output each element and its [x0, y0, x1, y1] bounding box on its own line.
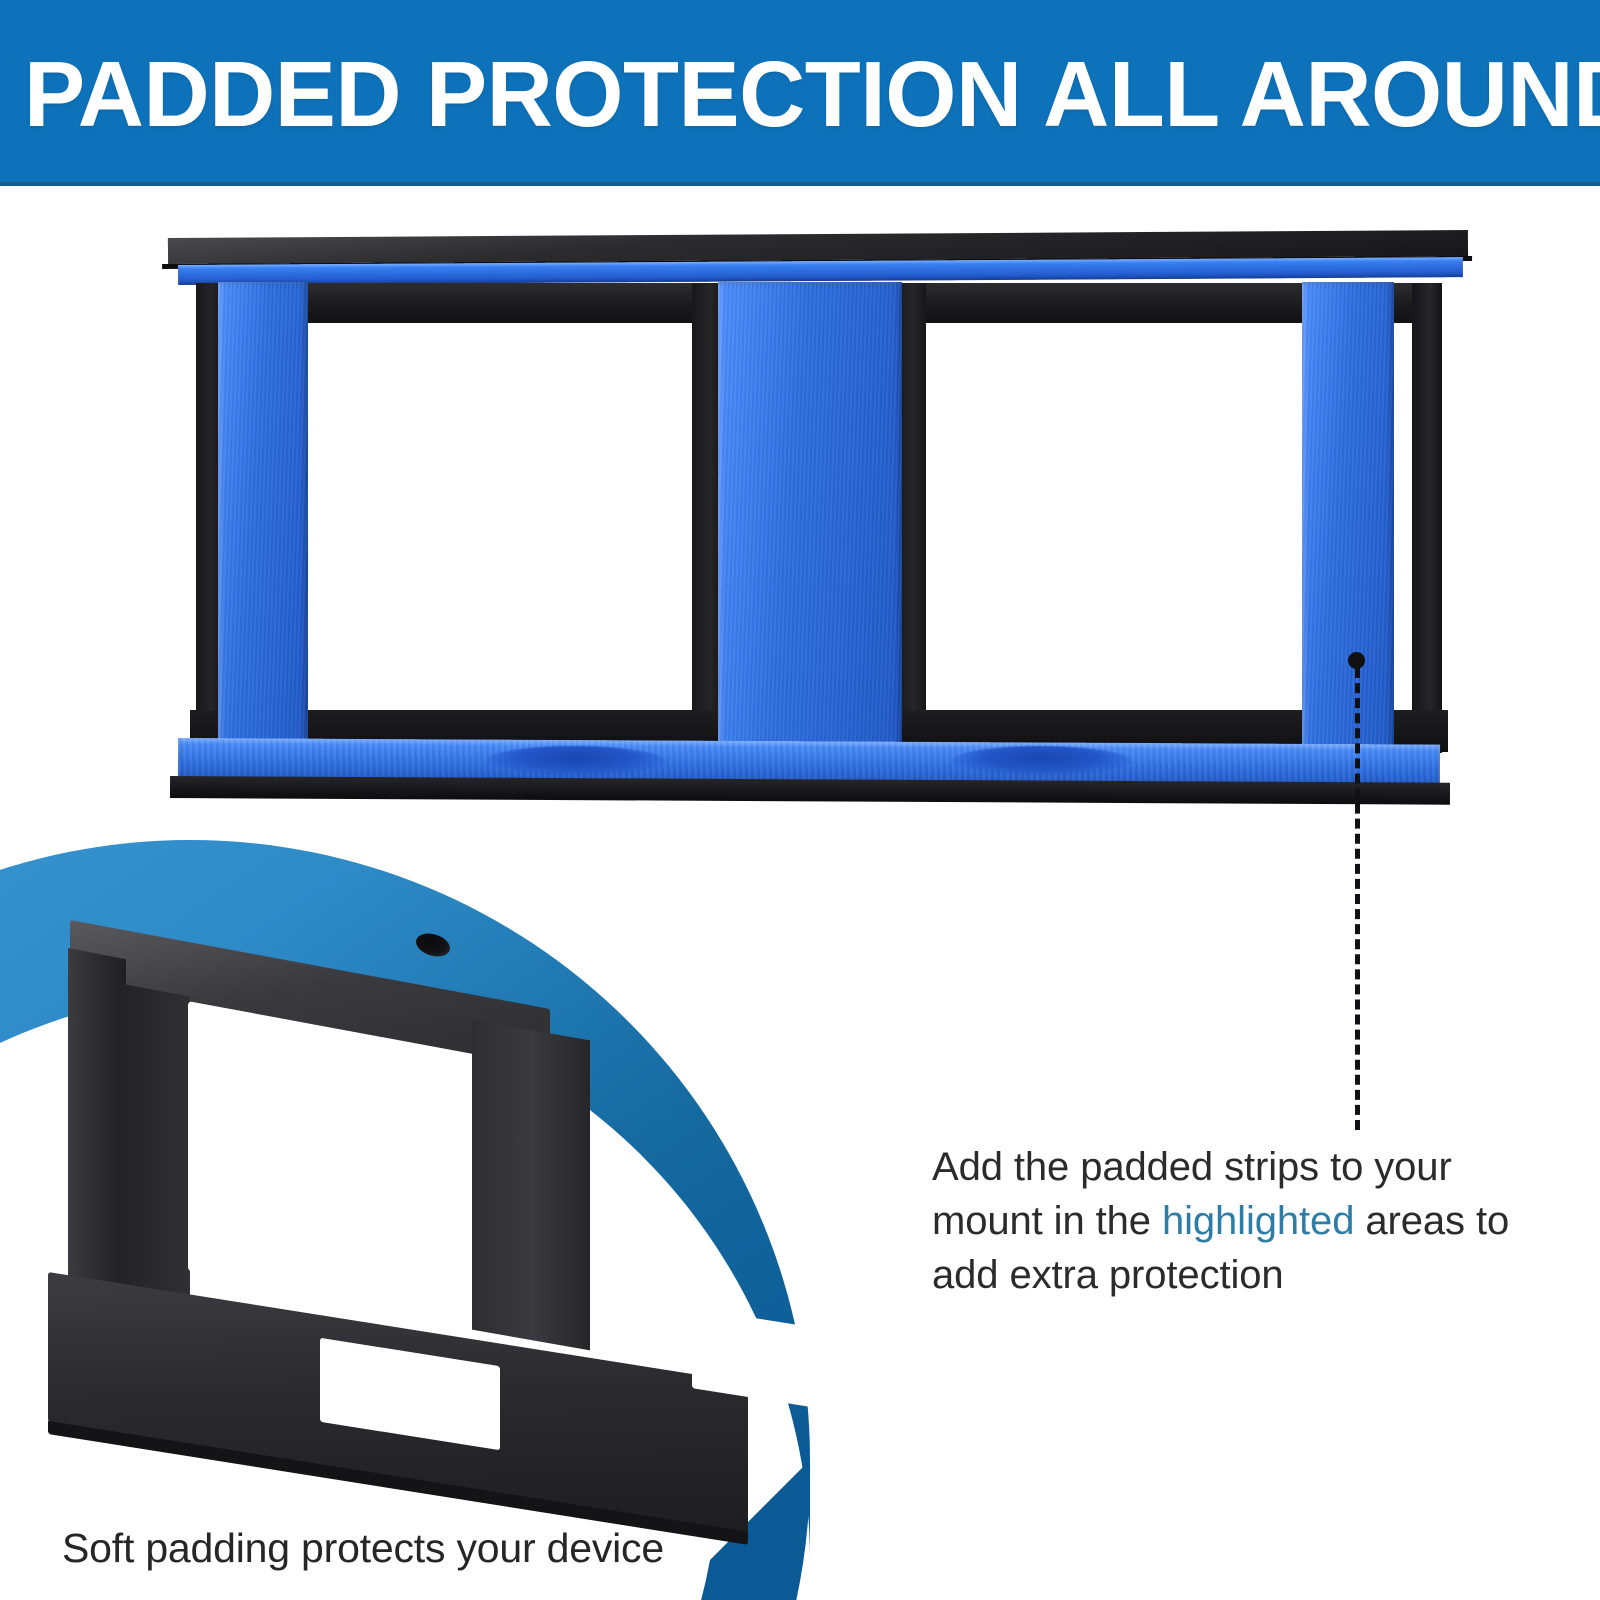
padding-strip-left — [218, 282, 308, 762]
screw-hole-icon — [416, 931, 450, 959]
inset-closeup-photo — [0, 830, 880, 1600]
mount-right-post — [1412, 283, 1442, 753]
hero-product-image — [0, 186, 1600, 846]
padding-strip-right — [1302, 282, 1394, 762]
description-line-2-before: mount in the — [932, 1199, 1162, 1243]
description-highlight-word: highlighted — [1162, 1199, 1354, 1243]
mount-closeup — [20, 900, 760, 1500]
description-line-2-after: areas — [1354, 1199, 1465, 1243]
closeup-right-post — [472, 1020, 590, 1351]
dot-icon — [1348, 652, 1365, 669]
closeup-inner-wall — [120, 984, 190, 1327]
description-line-1: Add the padded strips to your — [932, 1145, 1452, 1189]
inset-caption: Soft padding protects your device — [62, 1524, 664, 1572]
closeup-window-opening — [188, 1001, 478, 1325]
header-banner: PADDED PROTECTION ALL AROUND — [0, 0, 1600, 186]
page-title: PADDED PROTECTION ALL AROUND — [24, 46, 1561, 142]
padding-strip-center — [718, 282, 902, 762]
description-text: Add the padded strips to your mount in t… — [932, 1140, 1552, 1302]
dashed-line-icon — [1355, 668, 1360, 1130]
